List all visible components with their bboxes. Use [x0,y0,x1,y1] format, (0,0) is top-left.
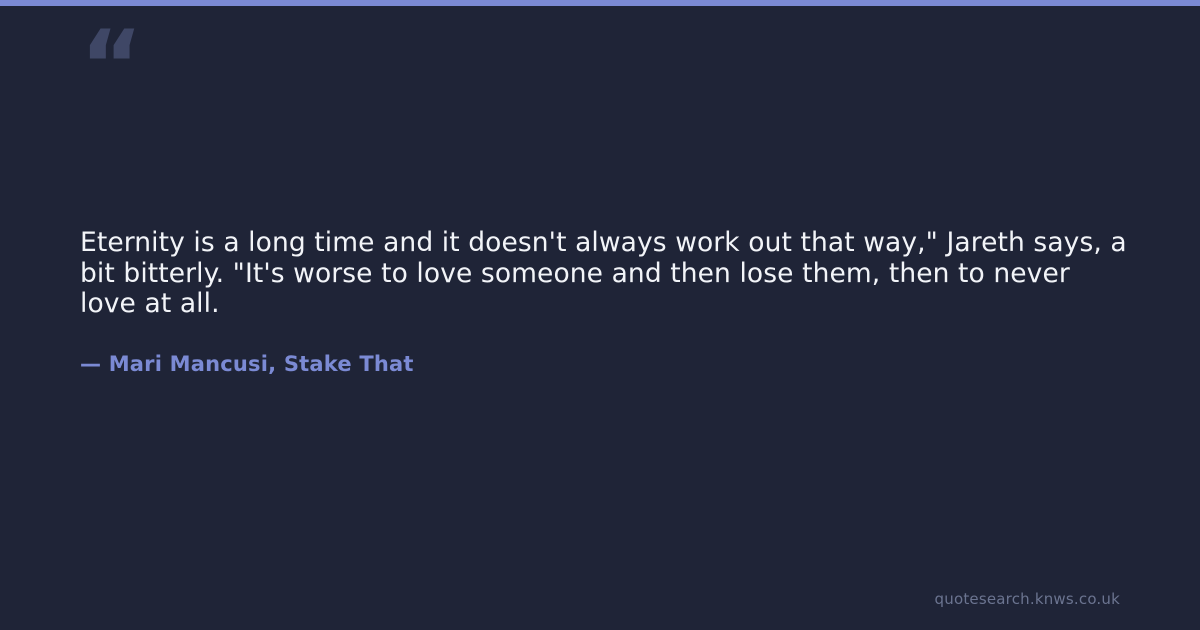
site-watermark: quotesearch.knws.co.uk [935,590,1120,608]
quote-card: “ Eternity is a long time and it doesn't… [0,0,1200,630]
quote-attribution: — Mari Mancusi, Stake That [80,320,1130,377]
quote-body: Eternity is a long time and it doesn't a… [80,228,1130,377]
opening-quote-icon: “ [80,18,141,114]
top-accent-bar [0,0,1200,6]
quote-text: Eternity is a long time and it doesn't a… [80,228,1130,320]
